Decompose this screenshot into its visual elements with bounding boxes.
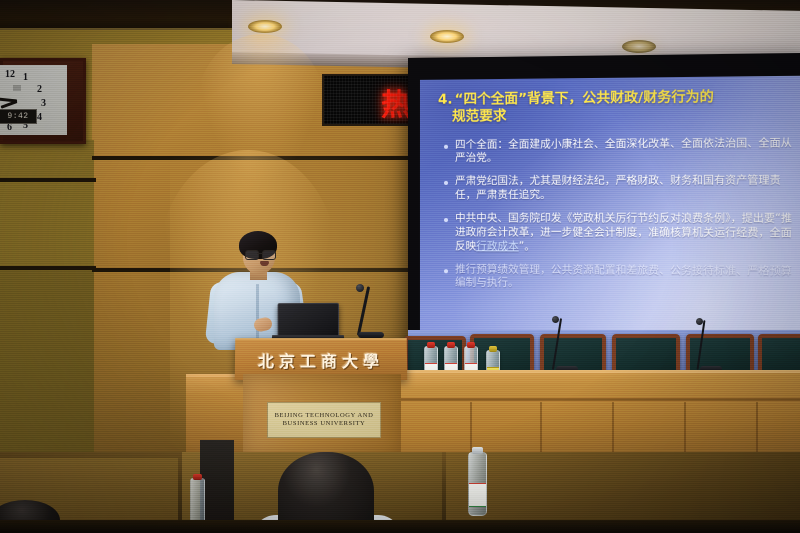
- slide-bullet-3-text-after: ”。: [519, 240, 535, 252]
- clock-numeral-4: 4: [37, 113, 42, 123]
- speaker-glasses-bridge: [257, 253, 262, 254]
- dais-microphone-2-head: [696, 318, 703, 325]
- ceiling-downlight-1: [248, 20, 282, 33]
- bottle-cap: [193, 474, 202, 480]
- ceiling-downlight-3: [622, 40, 656, 53]
- bottle-cap: [427, 342, 435, 348]
- slide-bullet-1-text: 四个全面：全面建成小康社会、全面深化改革、全面依法治国、全面从严治党。: [455, 136, 800, 166]
- wall-trim-3: [92, 156, 422, 160]
- table-seam-2: [540, 402, 542, 456]
- podium-microphone-base: [358, 332, 384, 338]
- dais-table-band: [398, 398, 800, 401]
- slide-title-line1: “四个全面”背景下，公共财政/财务行为的: [455, 89, 714, 108]
- clock-digital-display: 9:42: [0, 109, 37, 124]
- wall-trim-1: [0, 178, 96, 182]
- bottle-cap: [472, 447, 483, 454]
- slide-bullet-4-text: 推行预算绩效管理，公共资源配置和差旅费、公务接待标准、严格预算编制与执行。: [455, 263, 800, 293]
- clock-brand-mark: [13, 85, 21, 91]
- podium-microphone-head: [356, 284, 364, 292]
- projection-screen: 4.“四个全面”背景下，公共财政/财务行为的 规范要求 四个全面：全面建成小康社…: [420, 76, 800, 349]
- bullet-dot-icon: [444, 144, 448, 148]
- table-seam-3: [612, 402, 614, 456]
- speaker-glasses-right-lens: [262, 250, 276, 260]
- slide-title-line2: 规范要求: [452, 106, 800, 126]
- wall-panel-b: [0, 266, 94, 456]
- table-seam-5: [756, 402, 758, 456]
- table-seam-4: [684, 402, 686, 456]
- wall-trim-2: [0, 266, 96, 270]
- slide-bullet-3-highlight: 行政成本: [476, 240, 519, 252]
- clock-numeral-3: 3: [41, 99, 46, 109]
- slide-bullet-1: 四个全面：全面建成小康社会、全面深化改革、全面依法治国、全面从严治党。: [436, 136, 800, 166]
- foreground-water-bottle-2: [468, 452, 487, 516]
- bottle-cap: [447, 342, 455, 348]
- podium-university-name-en-line2: BUSINESS UNIVERSITY: [283, 420, 366, 428]
- slide-bullet-3: 中共中央、国务院印发《党政机关厉行节约反对浪费条例》，提出要“推进政府会计改革，…: [436, 212, 800, 255]
- clock-face: 11 12 1 2 3 4 5 6 7 9:42: [0, 65, 67, 135]
- slide-bullet-2: 严肃党纪国法，尤其是财经法纪，严格财政、财务和国有资产管理责任，严肃责任追究。: [436, 174, 800, 203]
- speaker-glasses-left-lens: [245, 250, 259, 260]
- clock-numeral-6: 6: [7, 123, 12, 133]
- bullet-dot-icon: [444, 269, 448, 273]
- bullet-dot-icon: [444, 218, 448, 222]
- foreground-desk-front-edge: [0, 520, 800, 533]
- bullet-dot-icon: [444, 181, 448, 185]
- slide-title-number: 4.: [438, 92, 453, 108]
- podium-body: BEIJING TECHNOLOGY AND BUSINESS UNIVERSI…: [243, 374, 401, 456]
- clock-numeral-1: 1: [23, 73, 28, 83]
- foreground-water-bottle: [190, 478, 205, 526]
- slide-bullet-2-text: 严肃党纪国法，尤其是财经法纪，严格财政、财务和国有资产管理责任，严肃责任追究。: [455, 174, 800, 203]
- bottle-cap: [489, 346, 497, 352]
- bottle-label: [469, 483, 486, 507]
- clock-digital-time: 9:42: [0, 110, 36, 123]
- slide-bullet-list: 四个全面：全面建成小康社会、全面深化改革、全面依法治国、全面从严治党。 严肃党纪…: [436, 136, 800, 293]
- dais-table: [398, 370, 800, 459]
- presentation-slide: 4.“四个全面”背景下，公共财政/财务行为的 规范要求 四个全面：全面建成小康社…: [420, 76, 800, 349]
- clock-numeral-12: 12: [5, 70, 15, 80]
- ceiling-downlight-2: [430, 30, 464, 43]
- podium-university-name-en-line1: BEIJING TECHNOLOGY AND: [275, 412, 374, 420]
- speaker-shirt-placket: [256, 284, 259, 346]
- wall-clock: 11 12 1 2 3 4 5 6 7 9:42: [0, 58, 86, 144]
- slide-bullet-4: 推行预算绩效管理，公共资源配置和差旅费、公务接待标准、严格预算编制与执行。: [436, 263, 800, 294]
- dais-microphone-1-head: [552, 316, 559, 323]
- clock-numeral-2: 2: [37, 85, 42, 95]
- podium-nameplate: BEIJING TECHNOLOGY AND BUSINESS UNIVERSI…: [267, 402, 381, 438]
- slide-bullet-3-text: 中共中央、国务院印发《党政机关厉行节约反对浪费条例》，提出要“推进政府会计改革，…: [455, 212, 800, 255]
- projection-screen-housing: 4.“四个全面”背景下，公共财政/财务行为的 规范要求 四个全面：全面建成小康社…: [408, 53, 800, 355]
- photo-scene: 11 12 1 2 3 4 5 6 7 9:42 热 座 4.“四个全面”背: [0, 0, 800, 533]
- slide-title: 4.“四个全面”背景下，公共财政/财务行为的 规范要求: [438, 88, 800, 126]
- led-banner-left: 热: [322, 74, 418, 126]
- bottle-cap: [467, 342, 475, 348]
